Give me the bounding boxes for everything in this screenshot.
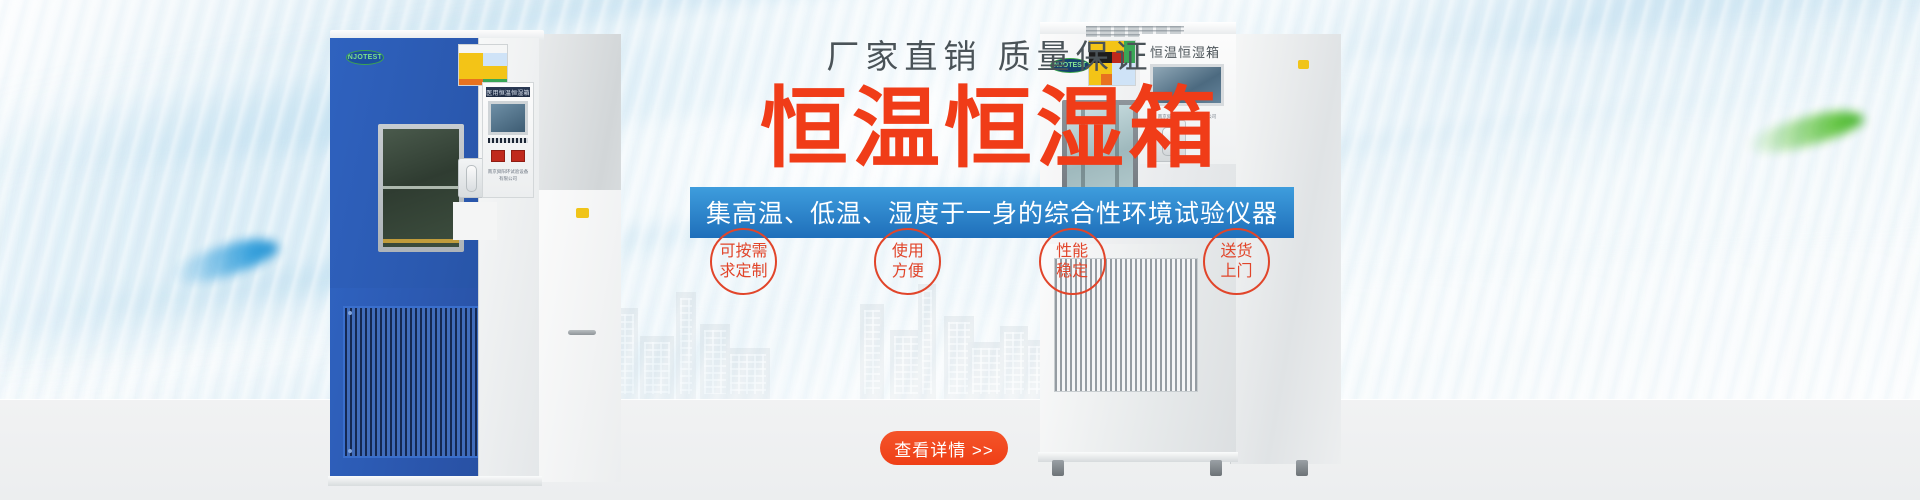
feature-badge-3[interactable]: 性能稳定 [1039, 228, 1106, 295]
product-image-left: NJOTEST 医用恒温恒湿箱 南京舜阳环试验设备有限公司 [330, 30, 620, 490]
badge-line-1: 可按需 [719, 242, 767, 262]
control-panel-buttons[interactable] [488, 149, 528, 163]
skyline-building [676, 292, 696, 400]
machine-base-plinth [1038, 452, 1238, 462]
badge-line-1: 使用 [892, 242, 924, 262]
control-panel-title: 医用恒温恒湿箱 [486, 87, 530, 97]
machine-base-plinth [328, 476, 542, 486]
feature-badge-list: 可按需求定制使用方便性能稳定送货上门 [710, 228, 1270, 295]
control-panel-screen[interactable] [488, 101, 528, 135]
machine-view-window [378, 124, 464, 252]
skyline-building [726, 348, 770, 400]
tagline: 厂家直销 质量保证 [690, 40, 1290, 73]
control-panel[interactable]: 医用恒温恒湿箱 南京舜阳环试验设备有限公司 [482, 82, 534, 198]
badge-line-2: 上门 [1220, 262, 1252, 282]
badge-line-1: 性能 [1056, 242, 1088, 262]
machine-hazard-label [453, 202, 497, 240]
skyline-building [918, 284, 936, 400]
warning-label-sticker [458, 44, 508, 86]
control-panel-footer-text: 南京舜阳环试验设备有限公司 [486, 168, 530, 175]
machine-caster-wheel [1296, 460, 1308, 476]
promo-banner: NJOTEST 医用恒温恒湿箱 南京舜阳环试验设备有限公司 [0, 0, 1920, 500]
badge-line-2: 方便 [892, 262, 924, 282]
machine-side-lower-panel [535, 190, 621, 482]
feature-badge-1[interactable]: 可按需求定制 [710, 228, 777, 295]
badge-line-1: 送货 [1220, 242, 1252, 262]
window-glass [383, 129, 459, 247]
machine-side-sticker [576, 208, 589, 218]
skyline-building [640, 336, 674, 400]
machine-side-sticker [1298, 60, 1309, 69]
skyline-building [860, 304, 884, 400]
headline-block: 厂家直销 质量保证 恒温恒湿箱 集高温、低温、湿度于一身的综合性环境试验仪器 [690, 40, 1290, 238]
badge-line-2: 求定制 [719, 262, 767, 282]
control-panel-keys[interactable] [488, 138, 528, 143]
page-title: 恒温恒湿箱 [690, 83, 1290, 175]
brand-logo: NJOTEST [346, 50, 384, 65]
feature-badge-4[interactable]: 送货上门 [1203, 228, 1270, 295]
machine-side-handle [568, 330, 596, 335]
feature-badge-2[interactable]: 使用方便 [874, 228, 941, 295]
badge-line-2: 稳定 [1056, 262, 1088, 282]
view-details-button[interactable]: 查看详情 >> [880, 431, 1008, 465]
machine-caster-wheel [1210, 460, 1222, 476]
machine-caster-wheel [1052, 460, 1064, 476]
